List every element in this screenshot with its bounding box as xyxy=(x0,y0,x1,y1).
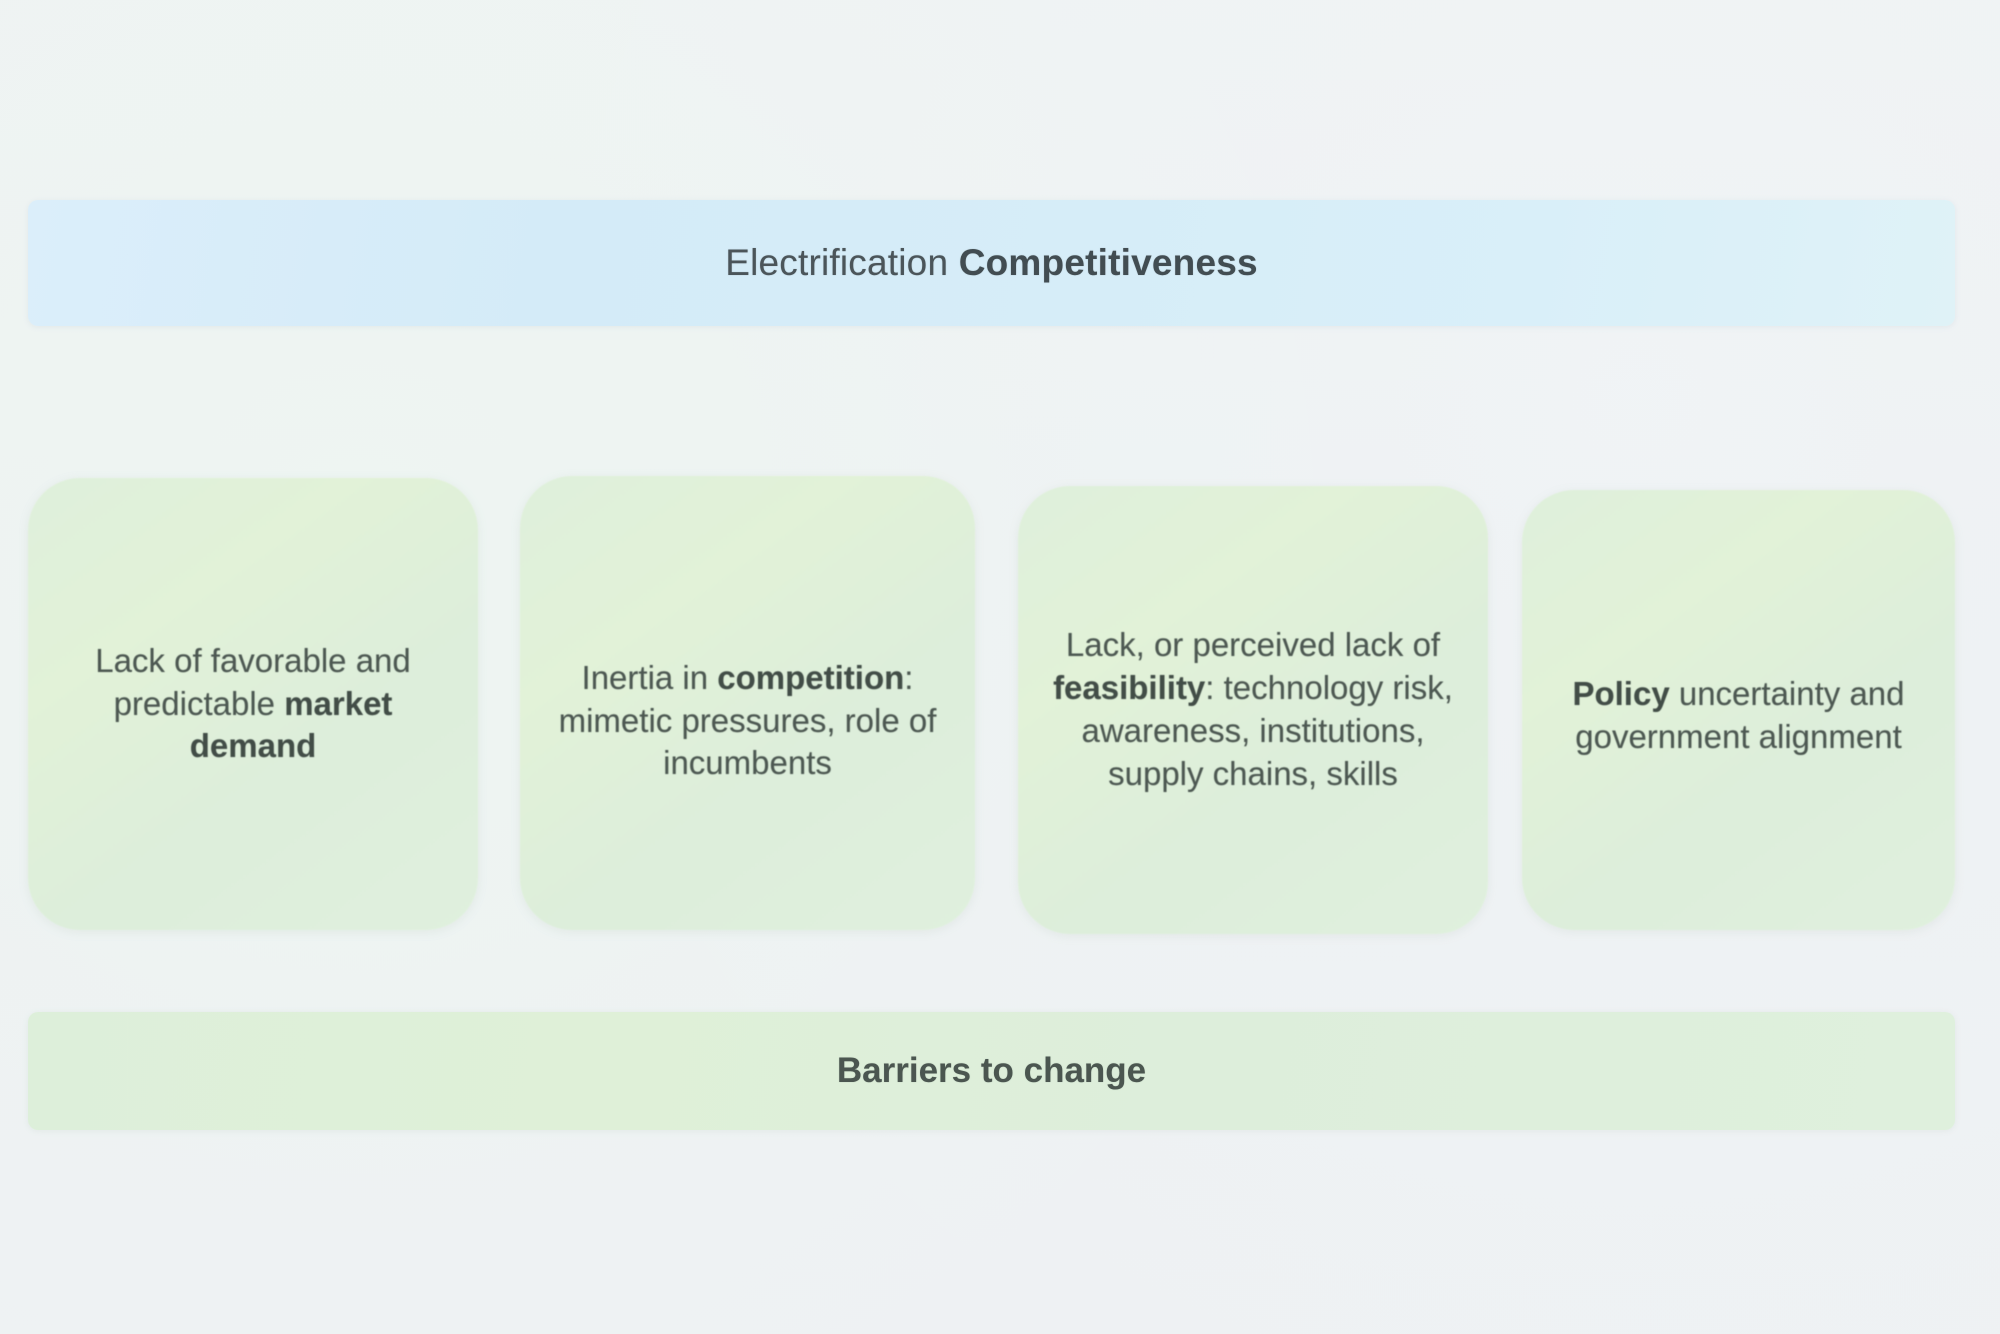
barrier-card-feasibility-text: Lack, or perceived lack of feasibility: … xyxy=(1044,624,1462,796)
barrier-card-market-demand-text: Lack of favorable and predictable market… xyxy=(54,640,452,769)
banner-title: Electrification Competitiveness xyxy=(725,242,1258,284)
barrier-card-competition-inertia-text: Inertia in competition: mimetic pressure… xyxy=(546,621,949,786)
barrier-card-competition-inertia: Inertia in competition: mimetic pressure… xyxy=(520,476,975,930)
barrier-card-policy-uncertainty: Policy uncertainty and government alignm… xyxy=(1522,490,1955,930)
footer-title: Barriers to change xyxy=(837,1051,1146,1091)
barrier-card-feasibility: Lack, or perceived lack of feasibility: … xyxy=(1018,486,1488,934)
barrier-card-policy-uncertainty-text: Policy uncertainty and government alignm… xyxy=(1548,661,1929,759)
barrier-card-market-demand: Lack of favorable and predictable market… xyxy=(28,478,478,930)
electrification-competitiveness-banner: Electrification Competitiveness xyxy=(28,200,1955,326)
barriers-to-change-banner: Barriers to change xyxy=(28,1012,1955,1130)
